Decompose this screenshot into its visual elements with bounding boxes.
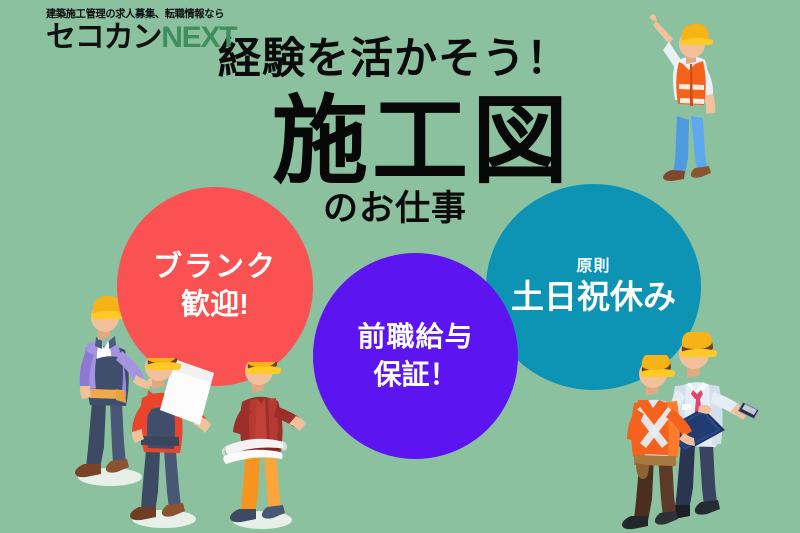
highlight-circle-blank-welcome[interactable]: ブランク 歓迎! <box>117 187 313 386</box>
figure-pointing-worker <box>639 8 735 188</box>
headline-line2: 施工図 <box>272 94 572 190</box>
site-logo[interactable]: 建築施工管理の求人募集、転職情報なら セコカンNEXT <box>46 8 276 53</box>
headline-line3: のお仕事 <box>323 191 467 226</box>
circle-label-line2: 歓迎! <box>181 287 249 324</box>
circle-label-line2: 保証！ <box>373 356 457 394</box>
logo-brand-secondary: NEXT <box>161 21 236 54</box>
circle-label-line1: 前職給与 <box>357 318 473 356</box>
highlight-circle-salary-guarantee[interactable]: 前職給与 保証！ <box>313 253 518 459</box>
figure-orange-worker <box>212 362 322 533</box>
figure-vest-worker <box>614 355 714 533</box>
logo-tagline: 建築施工管理の求人募集、転職情報なら <box>46 8 269 21</box>
circle-label-line1: ブランク <box>153 249 277 286</box>
circle-label-line1: 原則 <box>576 257 610 276</box>
logo-brand-primary: セコカン <box>46 21 161 54</box>
circle-label-line2: 土日祝休み <box>511 277 676 317</box>
banner-canvas: 建築施工管理の求人募集、転職情報なら セコカンNEXT ブランク 歓迎! <box>0 0 800 533</box>
logo-brand: セコカンNEXT <box>46 22 276 54</box>
